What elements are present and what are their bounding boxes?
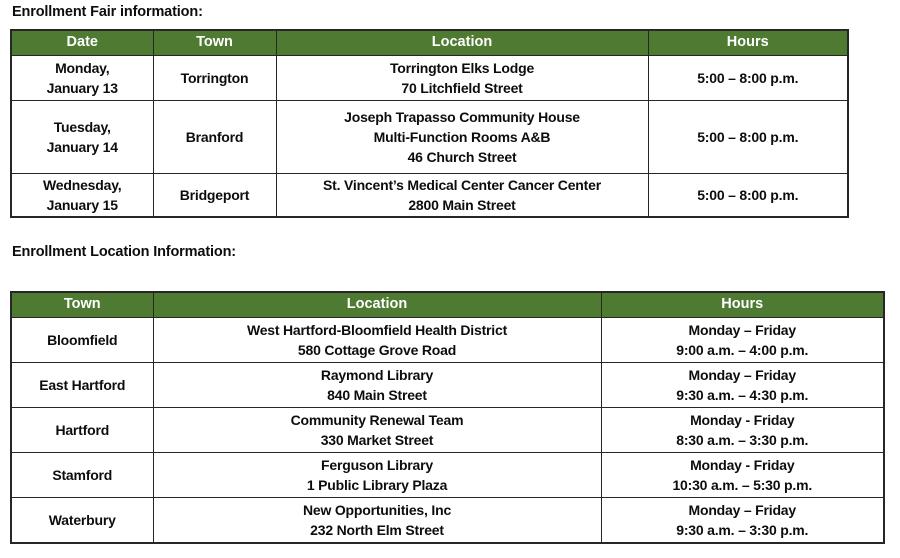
cell-date-line: Wednesday, [12, 175, 153, 195]
document-page: Enrollment Fair information: Date Town L… [0, 0, 900, 558]
table-row: Monday,January 13TorringtonTorrington El… [11, 56, 848, 101]
cell-town-line: Waterbury [12, 510, 153, 530]
cell-town-line: Torrington [154, 68, 276, 88]
cell-location-line: 70 Litchfield Street [277, 78, 648, 98]
cell-town-line: Bloomfield [12, 330, 153, 350]
cell-hours-line: 5:00 – 8:00 p.m. [649, 127, 848, 147]
enrollment-fair-table: Date Town Location Hours Monday,January … [10, 29, 849, 218]
cell-town-line: Stamford [12, 465, 153, 485]
table-row: BloomfieldWest Hartford-Bloomfield Healt… [11, 318, 884, 363]
cell-hours: 5:00 – 8:00 p.m. [648, 101, 848, 174]
cell-date-line: January 14 [12, 137, 153, 157]
cell-hours-line: 10:30 a.m. – 5:30 p.m. [602, 475, 884, 495]
cell-location: West Hartford-Bloomfield Health District… [153, 318, 601, 363]
cell-hours-line: 5:00 – 8:00 p.m. [649, 185, 848, 205]
cell-location-line: 1 Public Library Plaza [154, 475, 601, 495]
cell-hours: Monday - Friday10:30 a.m. – 5:30 p.m. [601, 453, 884, 498]
enrollment-location-heading: Enrollment Location Information: [12, 244, 236, 260]
cell-location-line: 46 Church Street [277, 147, 648, 167]
cell-location-line: Community Renewal Team [154, 410, 601, 430]
cell-location-line: 840 Main Street [154, 385, 601, 405]
cell-location-line: West Hartford-Bloomfield Health District [154, 320, 601, 340]
cell-hours: Monday - Friday8:30 a.m. – 3:30 p.m. [601, 408, 884, 453]
column-header-location: Location [276, 30, 648, 56]
cell-hours-line: 8:30 a.m. – 3:30 p.m. [602, 430, 884, 450]
cell-hours: 5:00 – 8:00 p.m. [648, 174, 848, 218]
cell-date: Wednesday,January 15 [11, 174, 153, 218]
cell-date-line: Tuesday, [12, 117, 153, 137]
cell-date: Monday,January 13 [11, 56, 153, 101]
cell-hours-line: Monday – Friday [602, 365, 884, 385]
cell-location: Torrington Elks Lodge70 Litchfield Stree… [276, 56, 648, 101]
cell-town: Bloomfield [11, 318, 153, 363]
table-row: East HartfordRaymond Library840 Main Str… [11, 363, 884, 408]
column-header-town: Town [153, 30, 276, 56]
cell-location-line: 2800 Main Street [277, 195, 648, 215]
table-header-row: Town Location Hours [11, 292, 884, 318]
cell-location-line: Joseph Trapasso Community House [277, 107, 648, 127]
enrollment-fair-heading: Enrollment Fair information: [12, 4, 203, 20]
cell-location: Community Renewal Team330 Market Street [153, 408, 601, 453]
cell-date-line: January 13 [12, 78, 153, 98]
cell-town: Torrington [153, 56, 276, 101]
cell-date: Tuesday,January 14 [11, 101, 153, 174]
table-row: Tuesday,January 14BranfordJoseph Trapass… [11, 101, 848, 174]
cell-location-line: St. Vincent’s Medical Center Cancer Cent… [277, 175, 648, 195]
table-row: Wednesday,January 15BridgeportSt. Vincen… [11, 174, 848, 218]
cell-town: Waterbury [11, 498, 153, 544]
cell-location-line: Raymond Library [154, 365, 601, 385]
cell-location: Raymond Library840 Main Street [153, 363, 601, 408]
cell-location-line: 330 Market Street [154, 430, 601, 450]
cell-location: St. Vincent’s Medical Center Cancer Cent… [276, 174, 648, 218]
table-row: HartfordCommunity Renewal Team330 Market… [11, 408, 884, 453]
cell-hours-line: Monday - Friday [602, 455, 884, 475]
column-header-hours: Hours [648, 30, 848, 56]
cell-hours: Monday – Friday9:30 a.m. – 4:30 p.m. [601, 363, 884, 408]
cell-date-line: January 15 [12, 195, 153, 215]
column-header-date: Date [11, 30, 153, 56]
cell-town-line: Hartford [12, 420, 153, 440]
enrollment-location-table: Town Location Hours BloomfieldWest Hartf… [10, 291, 885, 544]
cell-location-line: Ferguson Library [154, 455, 601, 475]
cell-location-line: Torrington Elks Lodge [277, 58, 648, 78]
cell-hours: Monday – Friday9:00 a.m. – 4:00 p.m. [601, 318, 884, 363]
cell-hours-line: 9:30 a.m. – 4:30 p.m. [602, 385, 884, 405]
table-header-row: Date Town Location Hours [11, 30, 848, 56]
cell-hours-line: 9:00 a.m. – 4:00 p.m. [602, 340, 884, 360]
cell-town: Stamford [11, 453, 153, 498]
cell-town: Branford [153, 101, 276, 174]
cell-town: Bridgeport [153, 174, 276, 218]
cell-hours-line: 9:30 a.m. – 3:30 p.m. [602, 520, 884, 540]
cell-location: Joseph Trapasso Community HouseMulti-Fun… [276, 101, 648, 174]
table-row: StamfordFerguson Library1 Public Library… [11, 453, 884, 498]
column-header-location: Location [153, 292, 601, 318]
cell-location-line: Multi-Function Rooms A&B [277, 127, 648, 147]
cell-location-line: New Opportunities, Inc [154, 500, 601, 520]
cell-town-line: East Hartford [12, 375, 153, 395]
cell-hours-line: Monday - Friday [602, 410, 884, 430]
cell-town: East Hartford [11, 363, 153, 408]
column-header-town: Town [11, 292, 153, 318]
table-row: WaterburyNew Opportunities, Inc232 North… [11, 498, 884, 544]
cell-location: Ferguson Library1 Public Library Plaza [153, 453, 601, 498]
cell-town: Hartford [11, 408, 153, 453]
cell-hours: Monday – Friday9:30 a.m. – 3:30 p.m. [601, 498, 884, 544]
cell-location-line: 232 North Elm Street [154, 520, 601, 540]
cell-location: New Opportunities, Inc232 North Elm Stre… [153, 498, 601, 544]
cell-hours-line: 5:00 – 8:00 p.m. [649, 68, 848, 88]
cell-town-line: Branford [154, 127, 276, 147]
cell-hours-line: Monday – Friday [602, 320, 884, 340]
cell-hours-line: Monday – Friday [602, 500, 884, 520]
cell-town-line: Bridgeport [154, 185, 276, 205]
cell-location-line: 580 Cottage Grove Road [154, 340, 601, 360]
column-header-hours: Hours [601, 292, 884, 318]
cell-hours: 5:00 – 8:00 p.m. [648, 56, 848, 101]
cell-date-line: Monday, [12, 58, 153, 78]
